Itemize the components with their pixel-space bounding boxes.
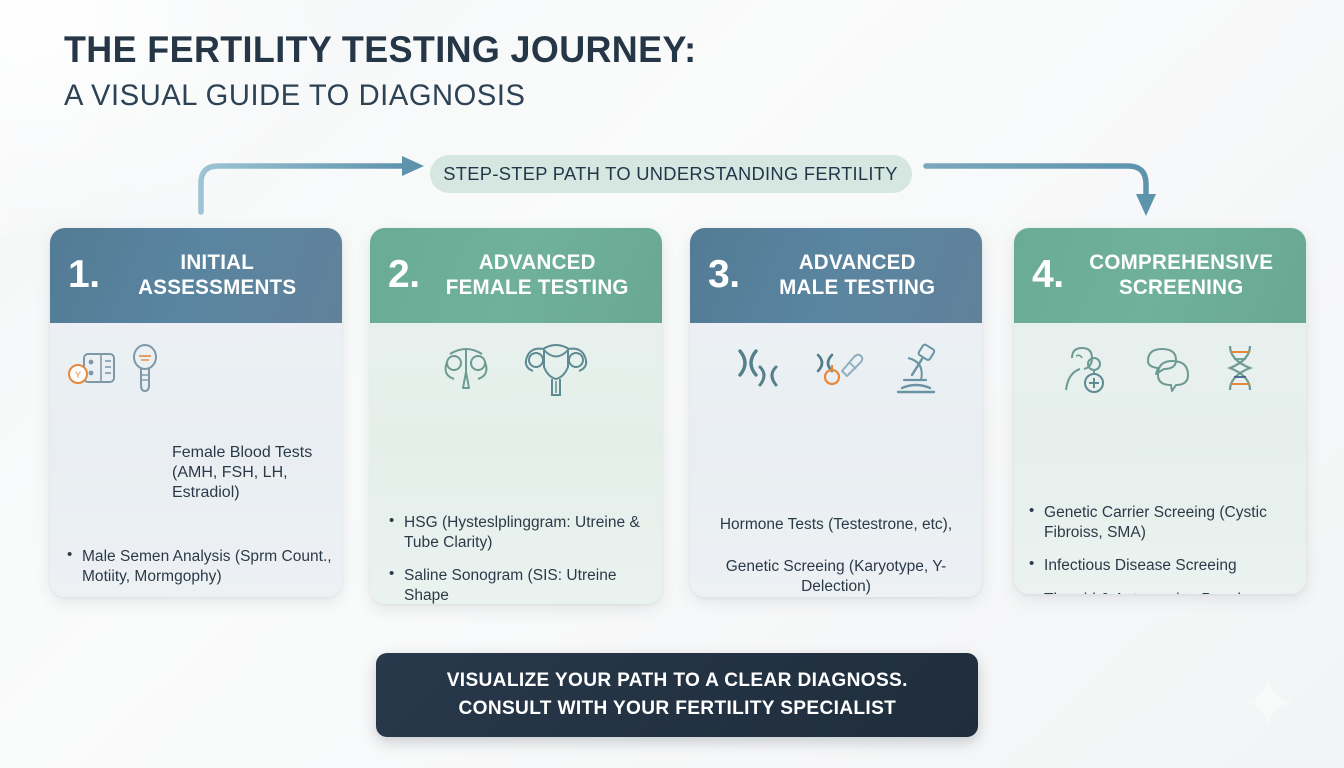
chromosome-pipette-icon [810,341,866,397]
lab-report-icon: Y [68,346,120,392]
svg-text:Y: Y [75,370,81,380]
card-number: 3. [708,255,740,296]
list-item: Male Semen Analysis (Sprm Count., Motiit… [66,547,336,586]
card-icon-row [1030,325,1290,413]
card-header: 2. ADVANCED FEMALE TESTING [370,228,662,323]
card-advanced-female-testing[interactable]: 2. ADVANCED FEMALE TESTING [370,228,662,604]
cta-line-1: VISUALIZE YOUR PATH TO A CLEAR DIAGNOSS. [446,667,907,695]
card-header: 1. INITIAL ASSESSMENTS [50,228,342,323]
patient-medical-badge-icon [1058,340,1116,398]
page-title: THE FERTILITY TESTING JOURNEY: [64,30,696,70]
card-body: Y Female Blood Tests (AMH, FSH, LH, Estr… [50,325,342,597]
card-icon-row [386,325,646,413]
card-title: ADVANCED FEMALE TESTING [428,251,646,300]
arrow-head-right [1136,194,1156,216]
card-number: 2. [388,255,420,296]
list-item: Thyroid & Autoumoine Panels [1028,590,1296,594]
card-comprehensive-screening[interactable]: 4. COMPREHENSIVE SCREENING [1014,228,1306,594]
card-title-line1: ADVANCED [798,251,915,274]
card-title-line2: MALE TESTING [748,276,966,301]
card-advanced-male-testing[interactable]: 3. ADVANCED MALE TESTING [690,228,982,597]
ovary-icon [437,342,495,396]
list-item: Saline Sonogram (SIS: Utreine Shape [388,566,648,604]
card-paragraph: Hormone Tests (Testestrone, etc), [702,515,970,535]
consultation-bubbles-icon [1138,343,1196,395]
card-lead-line2: (AMH, FSH, LH, Estradiol) [172,463,342,503]
card-title-line1: COMPREHENSIVE [1089,251,1273,274]
card-body: Hormone Tests (Testestrone, etc), Geneti… [690,325,982,597]
card-bullet-list: Male Semen Analysis (Sprm Count., Motiit… [66,547,336,597]
cta-banner[interactable]: VISUALIZE YOUR PATH TO A CLEAR DIAGNOSS.… [376,653,978,737]
card-title: COMPREHENSIVE SCREENING [1072,251,1290,300]
arrow-head-left [402,156,424,176]
list-item: Infectious Disease Screeing [1028,556,1296,576]
subtitle-pill-label: STEP-STEP PATH TO UNDERSTANDING FERTILIT… [444,163,899,185]
arrow-path-left [201,166,404,212]
microscope-icon [888,340,944,398]
card-title: ADVANCED MALE TESTING [748,251,966,300]
uterus-icon [517,333,595,405]
page-title-block: THE FERTILITY TESTING JOURNEY: A VISUAL … [64,30,716,112]
card-title-line2: SCREENING [1072,276,1290,301]
infographic-canvas: THE FERTILITY TESTING JOURNEY: A VISUAL … [0,0,1344,768]
card-title-line1: INITIAL [180,251,254,274]
flask-sample-icon [130,341,160,397]
page-subtitle: A VISUAL GUIDE TO DIAGNOSIS [64,79,696,112]
card-paragraph: Genetic Screeing (Karyotype, Y-Delection… [702,557,970,597]
card-header: 3. ADVANCED MALE TESTING [690,228,982,323]
card-title: INITIAL ASSESSMENTS [108,251,326,300]
card-title-line2: FEMALE TESTING [428,276,646,301]
chromosome-xy-icon [728,341,788,397]
card-lead-line1: Female Blood Tests [172,443,342,463]
card-icon-row [706,325,966,413]
card-title-line2: ASSESSMENTS [108,276,326,301]
card-lead-text: Female Blood Tests (AMH, FSH, LH, Estrad… [172,443,342,503]
card-initial-assessments[interactable]: 1. INITIAL ASSESSMENTS [50,228,342,597]
dna-helix-icon [1218,340,1262,398]
cta-line-2: CONSULT WITH YOUR FERTILITY SPECIALIST [458,695,896,723]
list-item: HSG (Hysteslplinggram: Utreine & Tube Cl… [388,513,648,552]
sparkle-icon [1240,674,1296,730]
card-number: 1. [68,255,100,296]
card-body: HSG (Hysteslplinggram: Utreine & Tube Cl… [370,325,662,604]
list-item: Genetic Carrier Screeing (Cystic Fibrois… [1028,503,1296,542]
card-bullet-list: HSG (Hysteslplinggram: Utreine & Tube Cl… [388,513,648,604]
card-icon-row: Y [66,325,326,413]
card-number: 4. [1032,255,1064,296]
card-title-line1: ADVANCED [478,251,595,274]
card-bullet-list: Genetic Carrier Screeing (Cystic Fibrois… [1028,503,1296,594]
card-paragraph-block: Hormone Tests (Testestrone, etc), Geneti… [702,515,970,597]
card-header: 4. COMPREHENSIVE SCREENING [1014,228,1306,323]
arrow-path-right [926,166,1146,196]
card-body: Genetic Carrier Screeing (Cystic Fibrois… [1014,325,1306,594]
subtitle-pill: STEP-STEP PATH TO UNDERSTANDING FERTILIT… [430,155,912,193]
